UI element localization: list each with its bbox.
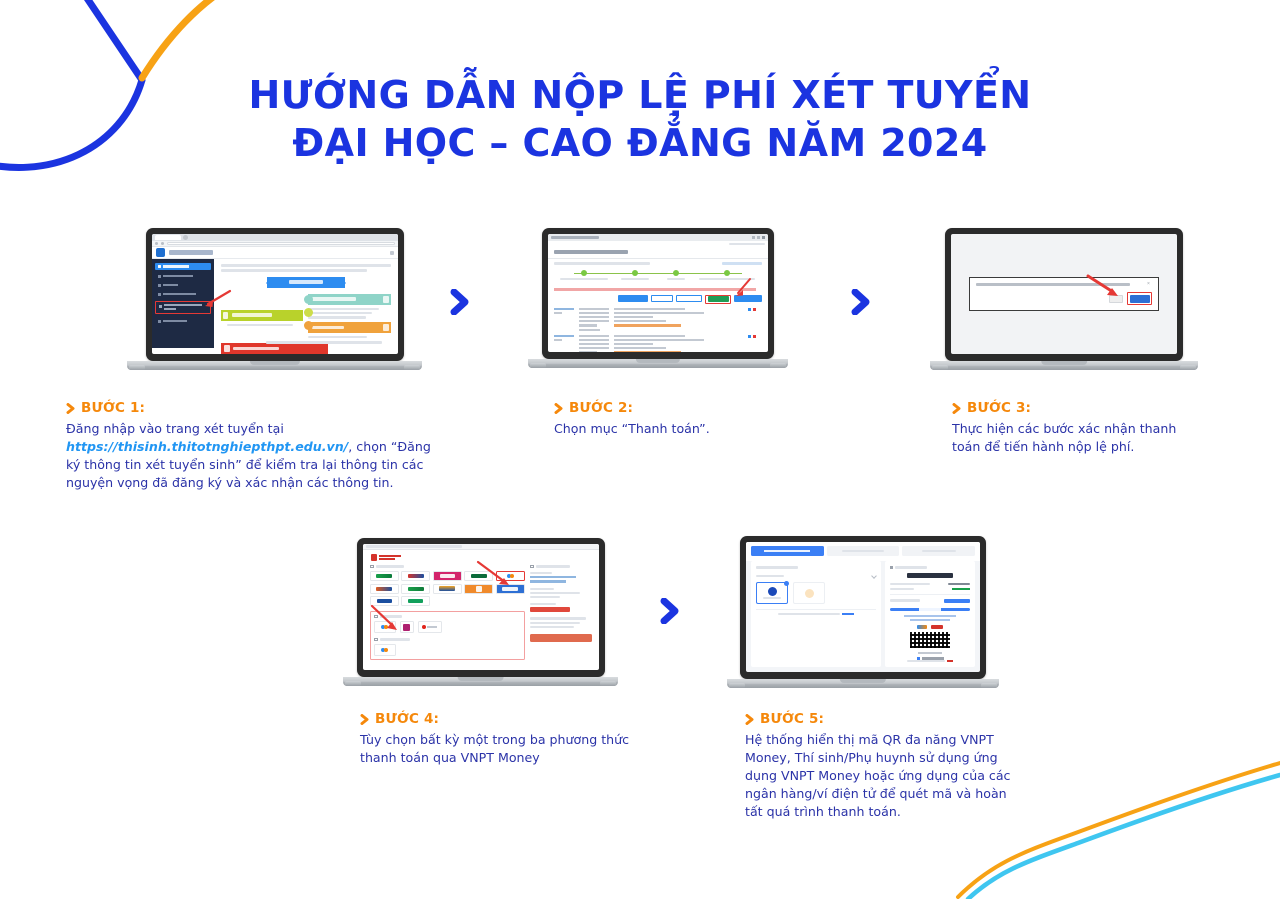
info-icon [383, 296, 389, 303]
content-area [214, 259, 398, 348]
page-heading-area [548, 247, 768, 254]
amount-label [530, 603, 556, 605]
button-thanh-toan-highlight[interactable] [705, 295, 731, 304]
section-tai-khoan-vien-thong [374, 638, 521, 641]
laptop-foot [770, 363, 786, 368]
summary-row [890, 583, 970, 585]
title-line-2: ĐẠI HỌC – CAO ĐẲNG NĂM 2024 [0, 120, 1280, 168]
bank-tile-techcombank[interactable] [401, 571, 430, 581]
laptop-mockup-step-2 [528, 228, 788, 368]
intro-text [221, 269, 367, 272]
banner-column-left [221, 294, 304, 339]
checkout-stepper-tabs [746, 542, 980, 561]
stepper-label [667, 278, 685, 280]
telecom-tile-vnpt-money[interactable] [374, 644, 396, 656]
table-row [554, 308, 762, 331]
banner-subtext [308, 316, 366, 318]
edit-icon [158, 293, 161, 296]
button-thanh-toan[interactable] [708, 296, 729, 302]
sidebar-item-label [163, 275, 193, 277]
step-2-text: Chọn mục “Thanh toán”. [554, 420, 884, 438]
qr-code-image [909, 631, 951, 648]
helper-link[interactable] [890, 619, 970, 621]
chevron-right-icon [952, 403, 962, 414]
maximize-icon[interactable] [757, 236, 760, 239]
laptop-foot [530, 363, 546, 368]
annotation-arrow-icon [200, 289, 232, 309]
wallet-tile-viettel-pay[interactable] [418, 621, 442, 633]
method-tile-qr-vnpt-money[interactable] [756, 582, 788, 604]
step-2-heading: BƯỚC 2: [554, 400, 884, 416]
bank-tile-grabpay[interactable] [401, 596, 430, 606]
footer-note [890, 660, 970, 662]
clock-icon [224, 345, 230, 352]
step-3-heading: BƯỚC 3: [952, 400, 1192, 416]
tab-chon-phuong-thuc-thanh-toan[interactable] [751, 546, 824, 556]
vnpt-money-logo-icon [917, 625, 927, 629]
timeline-dot [304, 295, 313, 304]
banner-tuyen-sinh [267, 277, 345, 288]
screenshot-step-3: × [951, 234, 1177, 354]
order-field-label [530, 588, 554, 590]
method-tiles [756, 582, 876, 604]
step-1-link[interactable]: https://thisinh.thitotnghiepthpt.edu.vn/ [66, 439, 348, 454]
tab-xac-nhan-ket-qua[interactable] [902, 546, 975, 556]
banner-subtext [227, 324, 293, 327]
sidebar-item-trang-chu[interactable] [155, 263, 211, 270]
vietqr-logo-icon [931, 625, 943, 629]
chevron-down-icon[interactable] [871, 573, 877, 579]
banner-subtext [308, 336, 367, 338]
app-logo-icon [156, 248, 165, 257]
list-icon [159, 305, 162, 308]
stepper-step [558, 270, 610, 280]
window-title [551, 236, 599, 239]
laptop-base [343, 677, 618, 686]
step-caption-2: BƯỚC 2: Chọn mục “Thanh toán”. [554, 400, 884, 438]
laptop-foot [345, 681, 361, 686]
step-1-heading: BƯỚC 1: [66, 400, 438, 416]
step-1-label: BƯỚC 1: [81, 400, 145, 416]
menu-icon[interactable] [390, 251, 394, 255]
button-dong-y-highlight [1127, 292, 1152, 305]
sidebar-item-label [164, 304, 202, 310]
step-caption-4: BƯỚC 4: Tùy chọn bất kỳ một trong ba phư… [360, 711, 650, 767]
close-icon[interactable] [762, 236, 765, 239]
panel-title [756, 566, 798, 569]
step-5-heading: BƯỚC 5: [745, 711, 1015, 727]
bank-tile-vietcombank[interactable] [370, 571, 399, 581]
receipt-icon [890, 566, 893, 569]
step-caption-1: BƯỚC 1: Đăng nhập vào trang xét tuyển tạ… [66, 400, 438, 492]
method-row-vnpt-money[interactable] [756, 574, 876, 578]
search-icon [158, 284, 161, 287]
step-1-text: Đăng nhập vào trang xét tuyển tại https:… [66, 420, 438, 492]
button-luu-danh-sach[interactable] [676, 295, 702, 302]
app-header [152, 247, 398, 259]
banner-thoi-gian-quan-trong-wrap [221, 343, 328, 354]
banner-thong-tin-chung [308, 294, 391, 305]
laptop-foot [932, 365, 948, 370]
checkout-body [746, 561, 980, 672]
method-label [756, 575, 784, 578]
banner-subtext [308, 308, 379, 310]
bank-tile-shb[interactable] [370, 584, 399, 594]
section-label [376, 565, 404, 567]
order-summary-panel [885, 561, 975, 667]
method-note [756, 613, 876, 615]
laptop-foot [129, 365, 145, 370]
dialog-button-row [970, 289, 1158, 310]
stepper-label [621, 278, 649, 280]
chevron-right-icon [745, 714, 755, 725]
annotation-arrow-icon [475, 560, 517, 588]
laptop-mockup-step-5 [727, 536, 999, 688]
bank-tile-agribank[interactable] [433, 571, 462, 581]
home-icon [158, 265, 161, 268]
step-caption-5: BƯỚC 5: Hệ thống hiển thị mã QR đa năng … [745, 711, 1015, 820]
stepper-step [661, 270, 691, 280]
button-thanh-toan[interactable] [530, 634, 592, 642]
separator-chevron-2 [851, 289, 875, 320]
delete-icon[interactable] [753, 308, 756, 311]
card-icon [370, 565, 374, 568]
amount-value [944, 599, 970, 603]
laptop-base [727, 679, 999, 688]
edit-icon[interactable] [748, 308, 751, 311]
order-field-value [530, 580, 566, 582]
laptop-base [528, 359, 788, 368]
laptop-foot [981, 683, 997, 688]
amount-value [530, 607, 570, 612]
screenshot-step-5 [746, 542, 980, 672]
qr-caption [890, 652, 970, 654]
chevron-right-icon [660, 598, 684, 624]
screenshot-step-4 [363, 544, 599, 670]
chevron-right-icon [851, 289, 875, 315]
screenshot-step-1 [152, 234, 398, 354]
banner-moc-thoi-gian [221, 310, 304, 321]
sidebar-item-phieu-dang-ky[interactable] [155, 273, 211, 279]
stepper [558, 270, 758, 286]
separator-chevron-3 [660, 598, 684, 629]
laptop-base [127, 361, 422, 370]
order-info-panel [530, 565, 592, 660]
amount-label [890, 599, 920, 601]
timeline-dot [304, 308, 313, 317]
chevron-right-icon [450, 289, 474, 315]
nguyen-vong-table [548, 304, 768, 352]
annotation-arrow-icon [732, 276, 754, 298]
app-body [152, 259, 398, 348]
payment-method-panel [751, 561, 881, 667]
screenshot-step-2 [548, 234, 768, 352]
banner-column-right [308, 294, 391, 339]
timeline-markers [304, 295, 313, 334]
step-1-text-before: Đăng nhập vào trang xét tuyển tại [66, 421, 284, 436]
stepper-step [615, 270, 655, 280]
sidebar-item-label [163, 320, 187, 322]
sidebar-item-label [163, 265, 189, 267]
delete-icon[interactable] [753, 335, 756, 338]
forward-icon [161, 242, 164, 245]
step-4-label: BƯỚC 4: [375, 711, 439, 727]
step-caption-3: BƯỚC 3: Thực hiện các bước xác nhận than… [952, 400, 1192, 456]
file-icon [158, 275, 161, 278]
tab-nhap-thong-tin-thanh-toan[interactable] [827, 546, 900, 556]
annotation-arrow-icon [369, 604, 403, 632]
helper-link[interactable] [890, 615, 970, 617]
laptop-mockup-step-3: × [930, 228, 1198, 370]
order-field-value [530, 576, 576, 578]
bank-tile-sacombank[interactable] [433, 584, 462, 594]
separator-chevron-1 [450, 289, 474, 320]
title-line-1: HƯỚNG DẪN NỘP LỆ PHÍ XÉT TUYỂN [0, 72, 1280, 120]
button-dong-y[interactable] [1130, 295, 1150, 303]
table-row [554, 335, 762, 352]
receipt-icon [530, 565, 534, 568]
back-icon [155, 242, 158, 245]
page-title: HƯỚNG DẪN NỘP LỆ PHÍ XÉT TUYỂN ĐẠI HỌC –… [0, 72, 1280, 168]
dialog-message-row: × [970, 278, 1158, 289]
amount-row [890, 599, 970, 603]
step-3-label: BƯỚC 3: [967, 400, 1031, 416]
calendar-icon [223, 312, 228, 319]
step-5-text: Hệ thống hiển thị mã QR đa năng VNPT Mon… [745, 731, 1015, 820]
method-tile-secondary[interactable] [793, 582, 825, 604]
laptop-foot [404, 365, 420, 370]
bank-tile-vpbank[interactable] [401, 584, 430, 594]
sidebar-item-tra-cuu[interactable] [155, 282, 211, 288]
order-summary-heading [890, 566, 970, 569]
annotation-arrow-icon [1085, 274, 1129, 304]
footer-text [266, 341, 382, 344]
banner-huong-dan [308, 322, 391, 333]
stepper-dot [724, 270, 730, 276]
laptop-base [930, 361, 1198, 370]
browser-tab-bar [152, 234, 398, 241]
button-tiep-tuc[interactable] [890, 608, 970, 611]
laptop-foot [600, 681, 616, 686]
chevron-right-icon [66, 403, 76, 414]
close-icon[interactable]: × [1147, 283, 1152, 286]
summary-row [890, 588, 970, 590]
laptop-foot [1180, 365, 1196, 370]
chevron-right-icon [554, 403, 564, 414]
step-5-label: BƯỚC 5: [760, 711, 824, 727]
confirm-dialog: × [969, 277, 1159, 311]
sim-icon [374, 638, 378, 641]
book-icon [383, 324, 389, 331]
app-title [169, 250, 213, 255]
stepper-label [560, 278, 608, 280]
infographic-page: HƯỚNG DẪN NỘP LỆ PHÍ XÉT TUYỂN ĐẠI HỌC –… [0, 0, 1280, 904]
sidebar-item-doi-mat-khau[interactable] [155, 318, 211, 324]
page-heading [554, 250, 628, 254]
chevron-right-icon [360, 714, 370, 725]
timeline-dot [304, 321, 313, 330]
sidebar-item-label [163, 284, 178, 286]
url-input[interactable] [167, 242, 395, 245]
minimize-icon[interactable] [752, 236, 755, 239]
button-them-moi[interactable] [651, 295, 673, 302]
window-title-bar [548, 234, 768, 241]
laptop-foot [729, 683, 745, 688]
step-3-text: Thực hiện các bước xác nhận thanh toán đ… [952, 420, 1192, 456]
step-4-heading: BƯỚC 4: [360, 711, 650, 727]
merchant-name [890, 573, 970, 578]
laptop-mockup-step-1 [127, 228, 422, 370]
banner-thoi-gian-quan-trong [221, 343, 328, 354]
qr-brand-row [890, 625, 970, 629]
edit-icon[interactable] [748, 335, 751, 338]
button-sap-xep-nguyen-vong[interactable] [618, 295, 648, 302]
lock-icon [158, 320, 161, 323]
order-field-label [530, 572, 552, 574]
new-tab-icon [183, 235, 188, 240]
laptop-mockup-step-4 [343, 538, 618, 686]
sidebar-item-label [163, 293, 196, 295]
logo-mark-icon [371, 554, 377, 561]
stepper-dot [581, 270, 587, 276]
section-label [380, 638, 410, 640]
notice-row [548, 262, 768, 265]
intro-text [221, 264, 391, 267]
banner-subtext [308, 312, 372, 314]
step-2-label: BƯỚC 2: [569, 400, 633, 416]
stepper-dot [632, 270, 638, 276]
stepper-dot [673, 270, 679, 276]
step-4-text: Tùy chọn bất kỳ một trong ba phương thức… [360, 731, 650, 767]
order-info-heading [530, 565, 592, 568]
browser-tab [155, 235, 181, 240]
user-label [729, 243, 765, 245]
